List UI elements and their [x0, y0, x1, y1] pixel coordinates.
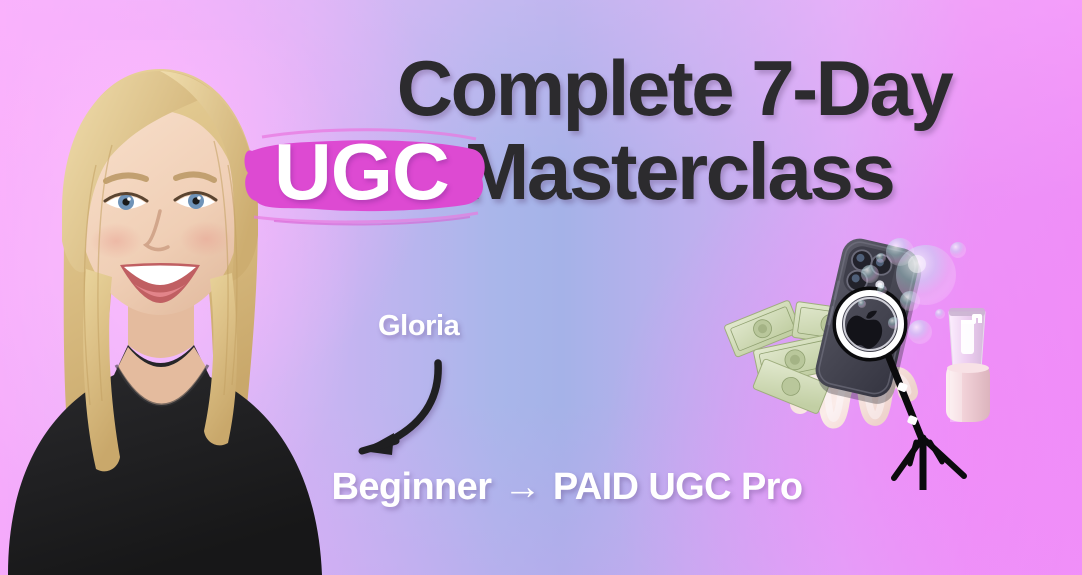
thumbnail-canvas: Complete 7-Day UGC Masterclass Gloria Be… — [0, 0, 1082, 575]
title-line-1: Complete 7-Day — [300, 52, 1040, 125]
ugc-word: UGC — [274, 127, 449, 216]
tagline-before: Beginner — [332, 466, 492, 508]
page-title: Complete 7-Day UGC Masterclass — [300, 52, 1040, 209]
ugc-highlight: UGC — [248, 135, 463, 209]
curved-arrow-down-left-icon — [336, 355, 466, 465]
collage-illustration — [718, 228, 1018, 490]
cheek-left — [90, 223, 142, 259]
masterclass-word: Masterclass — [463, 135, 894, 209]
cosmetic-pump-bottle-icon — [946, 308, 990, 422]
title-line-2: UGC Masterclass — [248, 135, 1040, 209]
hair-strand-right — [204, 273, 237, 445]
presenter-name-label: Gloria — [378, 310, 459, 343]
cheek-right — [180, 221, 232, 257]
right-arrow-icon: → — [503, 466, 540, 508]
product-collage — [718, 228, 1018, 490]
